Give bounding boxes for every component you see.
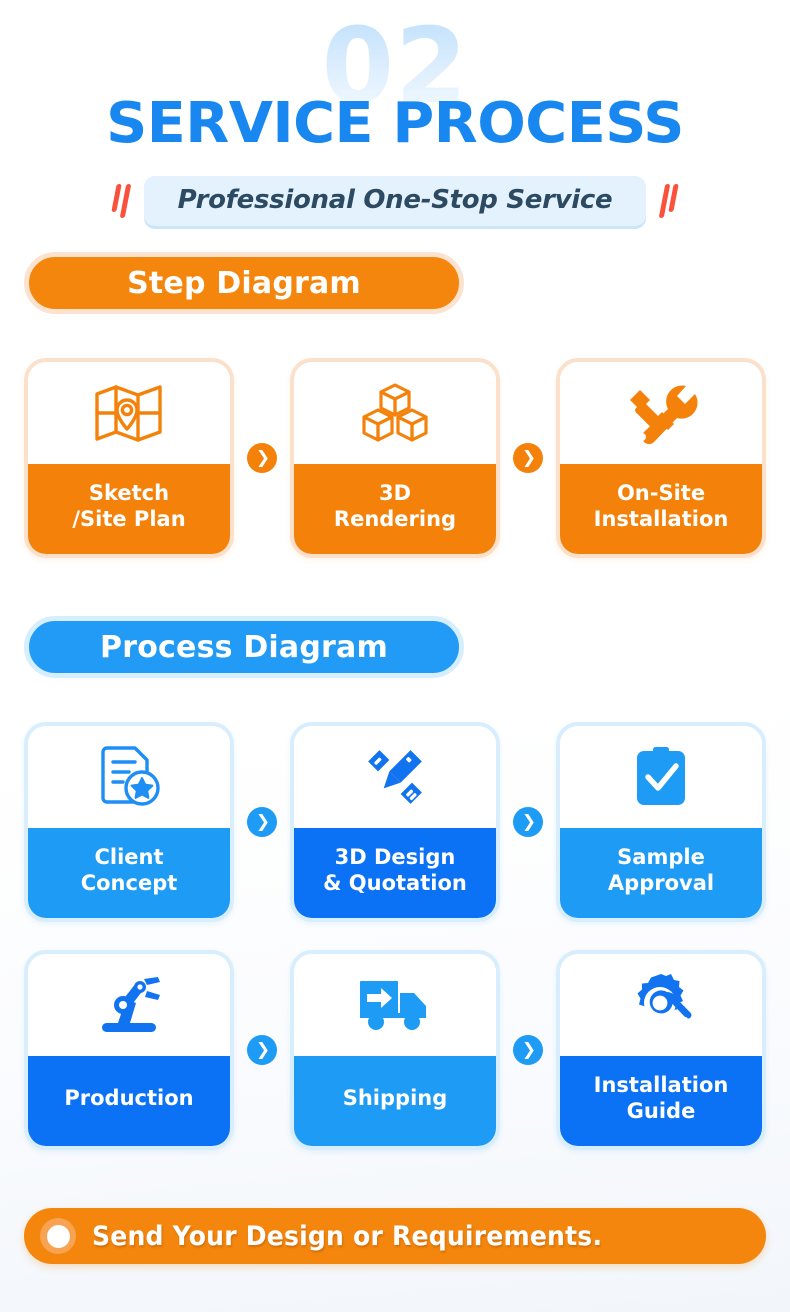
delivery-truck-icon [294,954,496,1056]
chevron-right-icon: ❯ [513,443,543,473]
card-production[interactable]: Production [24,950,234,1150]
section-heading-step-diagram: Step Diagram [24,252,464,314]
connector-process-1-2: ❯ [234,807,290,837]
connector-step-1-2: ❯ [234,443,290,473]
process-diagram-card-row-1: Client Concept ❯ 3D Design & Q [0,722,790,922]
circle-dot-icon [40,1218,76,1254]
subtitle-row: Professional One-Stop Service [0,176,790,226]
map-pin-icon [28,362,230,464]
chevron-right-icon: ❯ [247,807,277,837]
card-label: Client Concept [28,828,230,918]
section-heading-process-diagram: Process Diagram [24,616,464,678]
process-diagram-card-row-2: Production ❯ Shipping ❯ [0,950,790,1150]
robot-arm-icon [28,954,230,1056]
connector-process-2-3: ❯ [500,807,556,837]
card-3d-design-quotation[interactable]: 3D Design & Quotation [290,722,500,922]
card-label: 3D Design & Quotation [294,828,496,918]
card-label: On-Site Installation [560,464,762,554]
connector-process-4-5: ❯ [234,1035,290,1065]
card-label: 3D Rendering [294,464,496,554]
tools-wrench-icon [560,362,762,464]
chevron-right-icon: ❯ [247,443,277,473]
card-3d-rendering[interactable]: 3D Rendering [290,358,500,558]
card-sample-approval[interactable]: Sample Approval [556,722,766,922]
card-shipping[interactable]: Shipping [290,950,500,1150]
gear-wrench-icon [560,954,762,1056]
chevron-right-icon: ❯ [247,1035,277,1065]
subtitle-text: Professional One-Stop Service [178,185,613,215]
pencil-ruler-icon [294,726,496,828]
cubes-3d-icon [294,362,496,464]
step-diagram-card-row: Sketch /Site Plan ❯ [0,358,790,558]
card-label: Sample Approval [560,828,762,918]
tick-marks-left-icon [114,184,128,218]
connector-process-5-6: ❯ [500,1035,556,1065]
clipboard-check-icon [560,726,762,828]
subtitle-pill: Professional One-Stop Service [144,176,647,226]
card-sketch-site-plan[interactable]: Sketch /Site Plan [24,358,234,558]
card-client-concept[interactable]: Client Concept [24,722,234,922]
document-star-icon [28,726,230,828]
cta-send-design-button[interactable]: Send Your Design or Requirements. [24,1208,766,1264]
card-on-site-installation[interactable]: On-Site Installation [556,358,766,558]
chevron-right-icon: ❯ [513,1035,543,1065]
connector-step-2-3: ❯ [500,443,556,473]
card-label: Shipping [294,1056,496,1146]
page-title: SERVICE PROCESS [0,96,790,152]
card-label: Production [28,1056,230,1146]
chevron-right-icon: ❯ [513,807,543,837]
card-label: Installation Guide [560,1056,762,1146]
page-header: 02 SERVICE PROCESS Professional One-Stop… [0,0,790,252]
card-installation-guide[interactable]: Installation Guide [556,950,766,1150]
tick-marks-right-icon [662,184,676,218]
cta-text: Send Your Design or Requirements. [92,1221,602,1252]
card-label: Sketch /Site Plan [28,464,230,554]
